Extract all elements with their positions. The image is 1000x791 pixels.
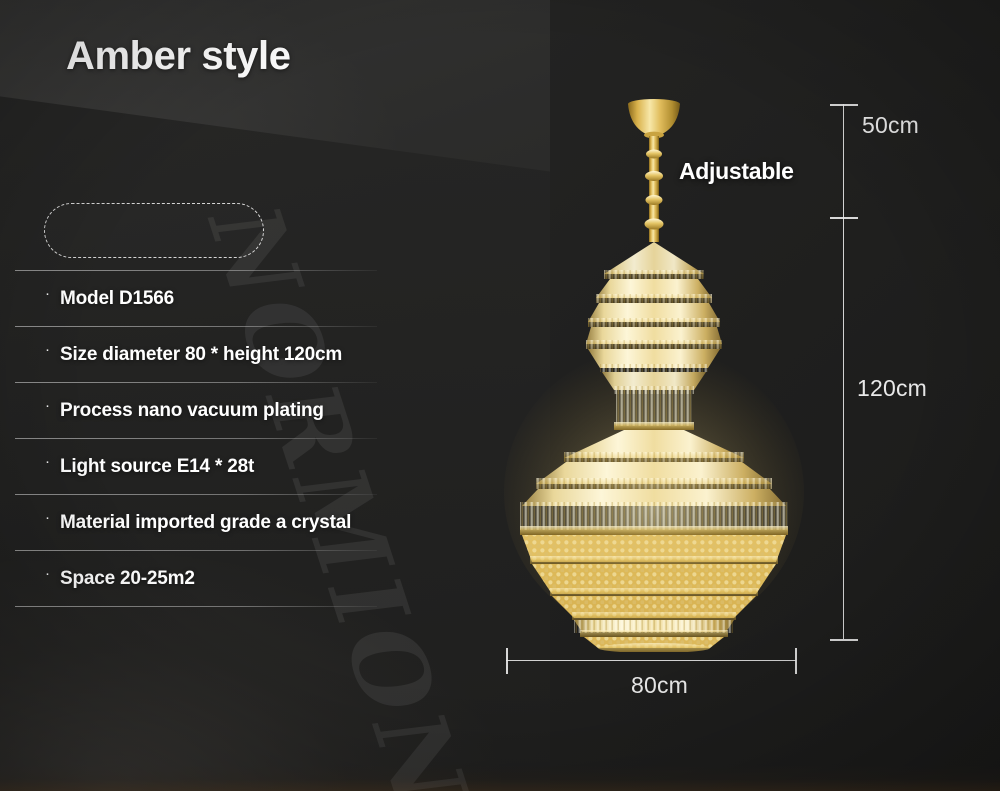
spec-item-label: Size diameter 80 * height 120cm bbox=[60, 344, 342, 366]
spec-item-label: Material imported grade a crystal bbox=[60, 512, 351, 534]
bullet-icon: · bbox=[45, 566, 55, 581]
spec-item-model: · Model D1566 bbox=[15, 271, 377, 326]
bullet-icon: · bbox=[45, 342, 55, 357]
bullet-icon: · bbox=[45, 398, 55, 413]
chandelier-bottom-tiers bbox=[574, 620, 734, 652]
bullet-icon: · bbox=[45, 510, 55, 525]
dimension-tick-right bbox=[795, 648, 797, 674]
dimension-label-diameter: 80cm bbox=[631, 672, 688, 699]
spec-item-label: Model D1566 bbox=[60, 288, 174, 310]
horizontal-dimension-line bbox=[506, 660, 796, 661]
spec-item-material: · Material imported grade a crystal bbox=[15, 495, 377, 550]
dimension-tick-top bbox=[830, 104, 858, 106]
dashed-placeholder-box[interactable] bbox=[44, 203, 264, 258]
dimension-tick-left bbox=[506, 648, 508, 674]
dimension-label-total-height: 120cm bbox=[857, 375, 927, 402]
spec-item-light-source: · Light source E14 * 28t bbox=[15, 439, 377, 494]
bullet-icon: · bbox=[45, 454, 55, 469]
suspension-rod bbox=[645, 136, 664, 242]
ceiling-canopy bbox=[628, 99, 680, 138]
product-spec-banner: NORMIONA Amber style · Model D1566 · Siz… bbox=[0, 0, 1000, 791]
vertical-dimension-line bbox=[843, 104, 844, 639]
spec-item-size: · Size diameter 80 * height 120cm bbox=[15, 327, 377, 382]
spec-item-label: Process nano vacuum plating bbox=[60, 400, 324, 422]
spec-item-process: · Process nano vacuum plating bbox=[15, 383, 377, 438]
bullet-icon: · bbox=[45, 286, 55, 301]
chandelier-waist bbox=[614, 390, 694, 430]
spec-item-space: · Space 20-25m2 bbox=[15, 551, 377, 606]
page-title: Amber style bbox=[66, 34, 291, 79]
spec-item-label: Space 20-25m2 bbox=[60, 568, 195, 590]
background-warm-footer bbox=[0, 765, 1000, 791]
spec-item-label: Light source E14 * 28t bbox=[60, 456, 254, 478]
dimension-tick-middle bbox=[830, 217, 858, 219]
specification-list: · Model D1566 · Size diameter 80 * heigh… bbox=[15, 270, 377, 607]
adjustable-label: Adjustable bbox=[679, 158, 794, 185]
dimension-label-drop-height: 50cm bbox=[862, 112, 919, 139]
spec-divider bbox=[15, 606, 377, 607]
dimension-tick-bottom bbox=[830, 639, 858, 641]
chandelier-upper-dome bbox=[586, 242, 722, 394]
